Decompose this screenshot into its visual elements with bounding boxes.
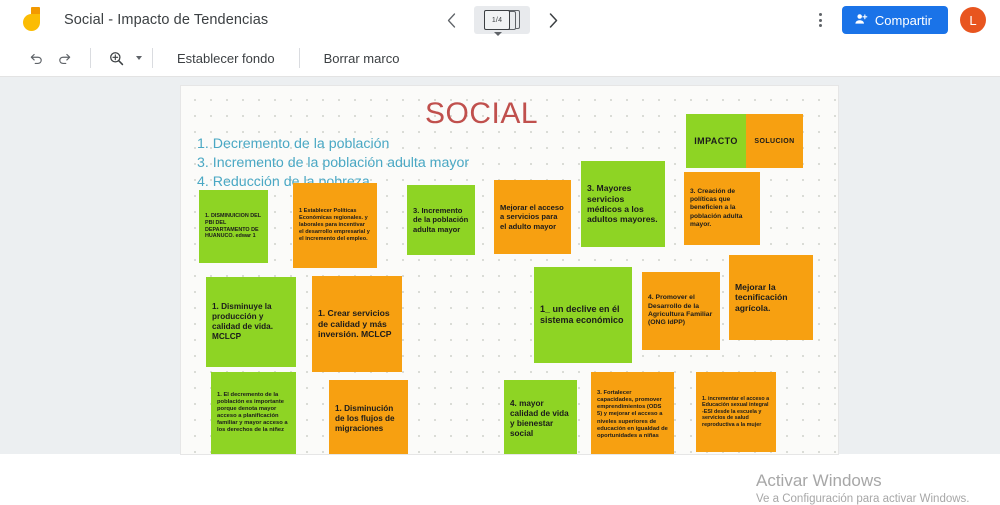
sticky-note[interactable]: 4. mayor calidad de vida y bienestar soc…	[504, 380, 577, 454]
header-actions: Compartir L	[812, 0, 986, 40]
undo-button[interactable]	[20, 44, 50, 72]
zoom-button[interactable]	[101, 44, 131, 72]
sticky-note[interactable]: 1. Crear servicios de calidad y más inve…	[312, 276, 402, 372]
frame-expand-caret-icon	[494, 32, 502, 36]
sticky-note-text: 1. DISMINUICION DEL PBI DEL DEPARTAMENTO…	[205, 213, 262, 239]
sticky-note[interactable]: 4. Promover el Desarrollo de la Agricult…	[642, 272, 720, 350]
sticky-note-text: 1. Disminuye la producción y calidad de …	[212, 302, 290, 342]
frame-selector-button[interactable]: 1/4	[474, 6, 530, 34]
sticky-note-text: 3. Fortalecer capacidades, promover empr…	[597, 390, 668, 439]
sticky-note-text: 1. Crear servicios de calidad y más inve…	[318, 308, 396, 339]
sticky-note[interactable]: 1. incrementar el acceso a Educación sex…	[696, 372, 776, 452]
sticky-note[interactable]: 1. DISMINUICION DEL PBI DEL DEPARTAMENTO…	[199, 190, 268, 263]
more-options-button[interactable]	[812, 9, 830, 31]
frame-counter: 1/4	[484, 10, 510, 30]
sticky-note-text: 4. Promover el Desarrollo de la Agricult…	[648, 294, 714, 327]
legend-box-label: SOLUCION	[754, 138, 794, 145]
sticky-note-text: Mejorar el acceso a servicios para el ad…	[500, 203, 565, 231]
legend-box-label: IMPACTO	[694, 136, 737, 146]
sticky-note[interactable]: 3. Fortalecer capacidades, promover empr…	[591, 372, 674, 454]
sticky-note[interactable]: 3. Incremento de la población adulta may…	[407, 185, 475, 255]
set-background-button[interactable]: Establecer fondo	[163, 51, 289, 66]
previous-frame-button[interactable]	[440, 9, 462, 31]
redo-button[interactable]	[50, 44, 80, 72]
sticky-note-text: 1. incrementar el acceso a Educación sex…	[702, 396, 770, 429]
board-text-line-1[interactable]: 1. Decremento de la población	[197, 136, 389, 152]
toolbar-divider-2	[152, 48, 153, 68]
windows-activation-subtitle: Ve a Configuración para activar Windows.	[756, 493, 970, 505]
clear-frame-button[interactable]: Borrar marco	[310, 51, 414, 66]
sticky-note[interactable]: 1_ un declive en él sistema económico	[534, 267, 632, 363]
toolbar-divider-3	[299, 48, 300, 68]
sticky-note-text: 3. Incremento de la población adulta may…	[413, 206, 469, 234]
sticky-note-text: 1 Establecer Políticas Económicas region…	[299, 208, 371, 242]
sticky-note-text: Mejorar la tecnificación agrícola.	[735, 282, 807, 313]
redo-icon	[57, 50, 74, 67]
sticky-note-text: 3. Mayores servicios médicos a los adult…	[587, 183, 659, 225]
chevron-right-icon	[549, 13, 558, 28]
canvas-area[interactable]: SOCIAL 1. Decremento de la población 3. …	[0, 77, 1000, 454]
sticky-note-text: 1_ un declive en él sistema económico	[540, 304, 626, 326]
sticky-note[interactable]: Mejorar el acceso a servicios para el ad…	[494, 180, 571, 254]
sticky-note-text: 1. Disminución de los flujos de migracio…	[335, 404, 402, 434]
sticky-note[interactable]: 3. Mayores servicios médicos a los adult…	[581, 161, 665, 247]
jamboard-logo-icon	[22, 7, 48, 33]
editor-toolbar: Establecer fondo Borrar marco	[0, 40, 1000, 77]
zoom-dropdown-button[interactable]	[136, 56, 142, 60]
legend-box-solucion[interactable]: SOLUCION	[746, 114, 803, 168]
user-avatar[interactable]: L	[960, 7, 986, 33]
share-button[interactable]: Compartir	[842, 6, 948, 34]
sticky-note[interactable]: Mejorar la tecnificación agrícola.	[729, 255, 813, 340]
person-add-icon	[854, 13, 868, 27]
next-frame-button[interactable]	[542, 9, 564, 31]
sticky-note[interactable]: 1. Disminuye la producción y calidad de …	[206, 277, 296, 367]
chevron-left-icon	[447, 13, 456, 28]
windows-activation-title: Activar Windows	[756, 471, 882, 491]
share-button-label: Compartir	[875, 13, 932, 28]
frame-navigation: 1/4	[440, 0, 564, 40]
sticky-note[interactable]: 1. El decremento de la población es impo…	[211, 372, 296, 454]
sticky-note-text: 3. Creación de políticas que beneficien …	[690, 188, 754, 228]
board-heading[interactable]: SOCIAL	[425, 97, 538, 131]
sticky-note[interactable]: 1. Disminución de los flujos de migracio…	[329, 380, 408, 454]
undo-icon	[27, 50, 44, 67]
jam-board-frame[interactable]: SOCIAL 1. Decremento de la población 3. …	[181, 86, 838, 454]
board-text-line-2[interactable]: 3. Incremento de la población adulta may…	[197, 155, 469, 171]
legend-box-impacto[interactable]: IMPACTO	[686, 114, 746, 168]
document-title[interactable]: Social - Impacto de Tendencias	[64, 12, 268, 28]
sticky-note[interactable]: 3. Creación de políticas que beneficien …	[684, 172, 760, 245]
sticky-note[interactable]: 1 Establecer Políticas Económicas region…	[293, 183, 377, 268]
zoom-in-icon	[108, 50, 125, 67]
sticky-note-text: 4. mayor calidad de vida y bienestar soc…	[510, 399, 571, 439]
app-header: Social - Impacto de Tendencias 1/4	[0, 0, 1000, 40]
sticky-note-text: 1. El decremento de la población es impo…	[217, 392, 290, 434]
toolbar-divider-1	[90, 48, 91, 68]
